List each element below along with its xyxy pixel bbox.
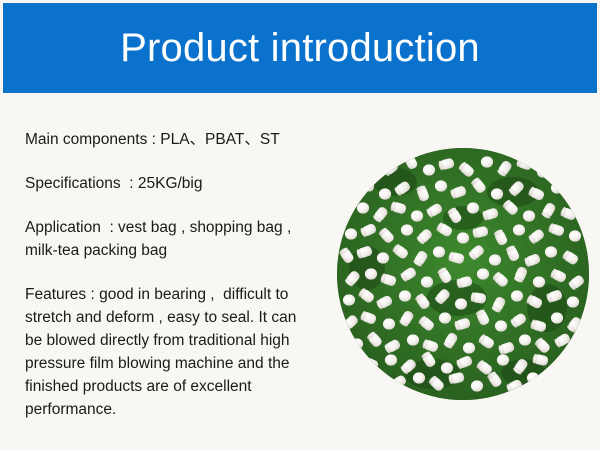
header-banner: Product introduction bbox=[3, 3, 597, 93]
pellet-graphic bbox=[337, 148, 589, 400]
product-photo-background bbox=[337, 148, 589, 400]
product-details: Main components : PLA、PBAT、ST Specificat… bbox=[25, 128, 355, 421]
detail-main-components: Main components : PLA、PBAT、ST bbox=[25, 128, 355, 151]
page-title: Product introduction bbox=[120, 28, 480, 68]
detail-specifications: Specifications : 25KG/big bbox=[25, 172, 355, 195]
slide-root: Product introduction bbox=[0, 0, 600, 450]
detail-features: Features : good in bearing , difficult t… bbox=[25, 283, 355, 421]
detail-application: Application : vest bag , shopping bag , … bbox=[25, 216, 355, 262]
product-photo bbox=[337, 148, 589, 400]
